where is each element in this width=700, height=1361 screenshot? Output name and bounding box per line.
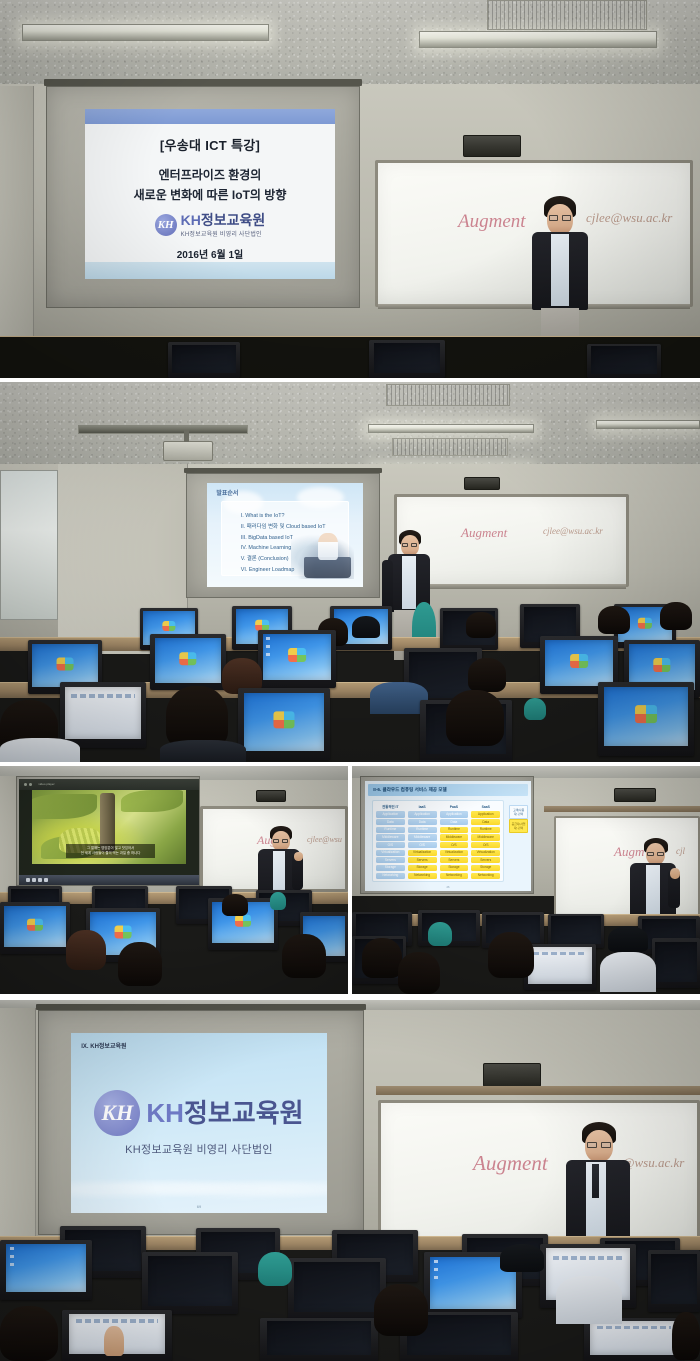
kh-logo-rest: 정보교육원 (184, 1098, 304, 1128)
cell-application: Application (376, 811, 405, 817)
side-window (0, 470, 58, 620)
banana-leaf-1 (32, 794, 97, 819)
screen (65, 687, 141, 740)
presenter-glasses (273, 839, 279, 843)
video-frame: 그 열매는 영양분이 많고 맛있어서 전 세계 사람들이 즐겨 먹는 과일 중 … (32, 790, 187, 864)
windows-logo-icon (635, 706, 657, 724)
video-subtitle: 그 열매는 영양분이 많고 맛있어서 전 세계 사람들이 즐겨 먹는 과일 중 … (66, 844, 156, 858)
teal-bag-seat (428, 922, 452, 946)
door-left (0, 1008, 36, 1240)
ceiling-texture (0, 382, 700, 464)
monitor-near-2 (524, 944, 596, 990)
screen (32, 644, 97, 687)
agenda-person-art (318, 533, 338, 560)
cell-storage: Storage (471, 865, 500, 871)
cloud-column-traditional: 전통적인 IT Application Data Runtime Middlew… (376, 803, 405, 879)
presenter-glasses-right (657, 852, 664, 856)
cell-networking: Networking (471, 873, 500, 879)
ceiling-light-c (368, 424, 534, 433)
whiteboard-note-secondary: cjlee@wsu (307, 835, 342, 844)
air-conditioner-vent-2 (392, 438, 508, 456)
chrome-dot (29, 783, 32, 786)
student-shoulder-1 (556, 1276, 622, 1324)
teal-bag-seat (270, 892, 286, 910)
monitor-near-3 (652, 938, 700, 988)
cloud-legend: 고객(사용자) 관리 공급자(사업자) 관리 (509, 805, 527, 833)
windows-logo-icon (179, 652, 196, 665)
kh-logo-kh: KH (181, 212, 201, 228)
cell-data: Data (376, 819, 405, 825)
cell-runtime: Runtime (376, 827, 405, 833)
cell-middleware: Middleware (440, 834, 469, 840)
gutter-3 (348, 766, 352, 994)
cell-runtime: Runtime (471, 827, 500, 833)
cell-middleware: Middleware (408, 834, 437, 840)
cloud-column-saas: SaaS Application Data Runtime Middleware… (471, 803, 500, 879)
student-head-3 (488, 932, 534, 978)
slide-page-number: 69 (197, 1204, 201, 1209)
panel-classroom-wide: 발표순서 I. What is the IoT? II. 패러다임 변화 및 C… (0, 382, 700, 762)
screen (6, 1244, 87, 1292)
monitor-mid-3 (258, 630, 336, 688)
slide-subtitle-2: 새로운 변화에 따른 IoT의 방향 (134, 186, 287, 204)
speaker-box (463, 135, 521, 157)
kh-logo-kh: KH (146, 1098, 184, 1128)
panel-closing-slide: IX. KH정보교육원 KH KH정보교육원 KH정보교육원 비영리 사단법인 … (0, 1000, 700, 1361)
cell-storage: Storage (376, 865, 405, 871)
screen (294, 1262, 380, 1312)
presenter-arm-left (382, 560, 393, 610)
presenter-glasses (647, 852, 654, 856)
cell-data: Data (408, 819, 437, 825)
monitor-mid-2 (150, 634, 226, 690)
front-monitor-1 (168, 342, 240, 378)
monitor-far-4 (548, 914, 604, 948)
speaker-box (464, 477, 500, 490)
ceiling-light-right (419, 31, 657, 48)
student-head-3 (222, 894, 248, 916)
cloud-column-paas: PaaS Application Data Runtime Middleware… (440, 803, 469, 879)
taskbar-icon[interactable] (32, 878, 36, 882)
presenter-glasses-right (562, 215, 571, 221)
column-header: SaaS (471, 803, 500, 810)
ceiling-light-e (596, 420, 700, 429)
cell-runtime: Runtime (408, 827, 437, 833)
agenda-title: 발표순서 (216, 488, 238, 497)
student-head-1 (362, 938, 402, 978)
desktop-icons (266, 637, 284, 658)
cell-servers: Servers (408, 857, 437, 863)
projector-screen-housing (44, 79, 362, 86)
student-hand-pointing (104, 1326, 124, 1356)
cell-servers: Servers (471, 857, 500, 863)
screen (148, 1256, 232, 1306)
ceiling-light-left (22, 24, 269, 41)
monitor-near-2 (238, 688, 330, 760)
screen (244, 693, 325, 751)
ceiling-light-a (78, 425, 248, 434)
windows-logo-icon (235, 915, 251, 927)
front-monitor-1-screen (172, 345, 235, 374)
kh-logo-tagline: KH정보교육원 비영리 사단법인 (125, 1141, 273, 1157)
front-monitor-3 (587, 344, 661, 378)
panel-title-slide: [우송대 ICT 특강] 엔터프라이즈 환경의 새로운 변화에 따른 IoT의 … (0, 0, 700, 378)
cloud-table-grid: 전통적인 IT Application Data Runtime Middlew… (376, 803, 500, 879)
slide-date: 2016년 6월 1일 (177, 246, 244, 261)
student-head-far-2 (466, 612, 496, 638)
speaker-box (483, 1063, 541, 1087)
kh-logo-block: KH KH정보교육원 KH정보교육원 비영리 사단법인 (94, 1090, 303, 1157)
speaker-box (256, 790, 286, 802)
presenter-glasses-right (411, 543, 417, 547)
closing-slide: IX. KH정보교육원 KH KH정보교육원 KH정보교육원 비영리 사단법인 … (71, 1033, 327, 1213)
cloud-slide-title: II-6. 클라우드 컴퓨팅 서비스 제공 모델 (368, 784, 527, 796)
cell-application: Application (440, 811, 469, 817)
projection-screen: II-6. 클라우드 컴퓨팅 서비스 제공 모델 전통적인 IT Applica… (360, 776, 534, 894)
cell-os: O/S (376, 842, 405, 848)
student-head-2 (398, 952, 440, 994)
cell-middleware: Middleware (376, 834, 405, 840)
kh-logo-row: KH KH정보교육원 (94, 1090, 303, 1136)
windows-logo-icon (638, 618, 652, 629)
screen (155, 638, 222, 683)
wall-shelf (376, 1086, 700, 1095)
door-left (0, 86, 34, 338)
projection-screen: IX. KH정보교육원 KH KH정보교육원 KH정보교육원 비영리 사단법인 … (38, 1010, 364, 1235)
windows-logo-icon (288, 648, 306, 662)
presenter-glasses-right (282, 839, 288, 843)
monitor-near-4 (584, 1318, 684, 1361)
slide-watermark (71, 1170, 327, 1202)
presenter-glasses-right (601, 1142, 611, 1148)
video-subtitle-line-2: 전 세계 사람들이 즐겨 먹는 과일 중 하나다 (69, 851, 153, 856)
column-header: 전통적인 IT (376, 803, 405, 810)
cell-networking: Networking (376, 873, 405, 879)
front-monitor-3-screen (591, 346, 656, 373)
agenda-item-1: I. What is the IoT? (241, 511, 342, 522)
student-cap (500, 1244, 544, 1272)
whiteboard-note-primary: Augment (473, 1151, 548, 1176)
panel-video-demo: video player 그 열매는 영양분이 많고 맛있어서 전 세계 사람들… (0, 766, 348, 994)
presenter-hand (294, 852, 303, 861)
cloud-table-card: 전통적인 IT Application Data Runtime Middlew… (372, 800, 505, 883)
kh-logo-mark: KH (155, 214, 177, 236)
cell-virtualization: Virtualization (471, 850, 500, 856)
cell-storage: Storage (408, 865, 437, 871)
video-slide: video player 그 열매는 영양분이 많고 맛있어서 전 세계 사람들… (19, 779, 199, 885)
cell-virtualization: Virtualization (440, 850, 469, 856)
presenter-shirt (402, 556, 416, 609)
panel-cloud-model: II-6. 클라우드 컴퓨팅 서비스 제공 모델 전통적인 IT Applica… (352, 766, 700, 994)
presenter-glasses (587, 1142, 597, 1148)
cell-storage: Storage (440, 865, 469, 871)
monitor-mid-1 (0, 902, 70, 954)
slide-heading: [우송대 ICT 특강] (160, 139, 260, 153)
column-header: PaaS (440, 803, 469, 810)
presenter-hand (670, 868, 680, 879)
presenter-glasses (549, 215, 558, 221)
student-head-3 (672, 1312, 700, 1360)
windows-logo-icon (653, 658, 670, 672)
monitor-mid-3 (288, 1258, 386, 1320)
student-head-1 (66, 930, 106, 970)
projector-mount (184, 430, 189, 442)
teal-bag-seat (524, 698, 546, 720)
wall-shelf (544, 806, 700, 812)
front-monitor-2-screen (374, 343, 441, 373)
cell-os: O/S (408, 842, 437, 848)
student-head-2 (118, 942, 162, 986)
cell-os: O/S (440, 842, 469, 848)
chrome-dot (24, 783, 27, 786)
cell-os: O/S (471, 842, 500, 848)
whiteboard-note-primary: Augment (458, 211, 526, 233)
screen (4, 906, 66, 948)
cell-servers: Servers (376, 857, 405, 863)
desktop-icons (434, 1260, 456, 1284)
monitor-near-4 (598, 682, 694, 756)
student-head-2 (374, 1284, 428, 1336)
windows-logo-icon (273, 711, 294, 728)
presenter-shirt (646, 865, 660, 919)
cell-data: Data (471, 819, 500, 825)
slide-section-label: IX. KH정보교육원 (81, 1041, 126, 1050)
kh-logo-tagline: KH정보교육원 비영리 사단법인 (181, 229, 262, 238)
presenter-tie (592, 1164, 599, 1198)
gutter-1 (0, 378, 700, 382)
whiteboard-note-primary: Augment (461, 525, 507, 541)
legend-user: 고객(사용자) 관리 (509, 805, 527, 819)
desktop-icons (10, 1247, 31, 1269)
speaker-box (614, 788, 656, 802)
video-browser-chrome: video player (19, 779, 199, 790)
student-shoulder-near-2 (160, 740, 246, 762)
projection-screen: 발표순서 I. What is the IoT? II. 패러다임 변화 및 C… (186, 473, 380, 598)
column-header: IaaS (408, 803, 437, 810)
monitor-near-1 (60, 682, 146, 748)
student-head-far-4 (660, 602, 692, 630)
whiteboard-note-secondary: cjlee@wsu.ac.kr (586, 210, 672, 226)
teal-bag-seat (258, 1252, 292, 1286)
screen (528, 947, 591, 984)
screen (651, 1254, 697, 1304)
student-shoulder-near-1 (0, 738, 80, 762)
screen (551, 916, 600, 943)
photo-collage: [우송대 ICT 특강] 엔터프라이즈 환경의 새로운 변화에 따른 IoT의 … (0, 0, 700, 1361)
kh-logo-mark: KH (94, 1090, 140, 1136)
cell-virtualization: Virtualization (408, 850, 437, 856)
slide-subtitle-1: 엔터프라이즈 환경의 (159, 166, 262, 184)
video-url-label: video player (38, 782, 54, 786)
cell-application: Application (471, 811, 500, 817)
title-slide: [우송대 ICT 특강] 엔터프라이즈 환경의 새로운 변화에 따른 IoT의 … (85, 109, 335, 279)
windows-logo-icon (255, 620, 269, 631)
cell-application: Application (408, 811, 437, 817)
cloud-model-slide: II-6. 클라우드 컴퓨팅 서비스 제공 모델 전통적인 IT Applica… (365, 781, 531, 891)
monitor-near-2 (260, 1318, 378, 1361)
student-head-near-2 (166, 686, 228, 748)
banana-leaf-2 (121, 790, 183, 812)
windows-logo-icon (162, 621, 175, 631)
kh-logo: KH KH정보교육원 KH정보교육원 비영리 사단법인 (155, 213, 266, 238)
taskbar-icon[interactable] (38, 878, 42, 882)
screen (267, 1321, 371, 1355)
ceiling-projector (163, 441, 213, 461)
windows-logo-icon (27, 919, 43, 931)
slide-top-band (85, 109, 335, 124)
cell-runtime: Runtime (440, 827, 469, 833)
student-cap-far (352, 616, 380, 638)
air-conditioner-vent (386, 384, 510, 406)
screen (545, 640, 614, 686)
student-head-4 (282, 934, 326, 978)
cell-servers: Servers (440, 857, 469, 863)
monitor-mid-2 (142, 1252, 238, 1314)
agenda-slide: 발표순서 I. What is the IoT? II. 패러다임 변화 및 C… (207, 483, 363, 587)
kh-logo-wordmark: KH정보교육원 (181, 213, 266, 227)
screen (655, 942, 697, 982)
student-head-1 (0, 1306, 58, 1361)
student-cap (608, 926, 648, 952)
kh-logo-rest: 정보교육원 (201, 212, 265, 228)
cell-virtualization: Virtualization (376, 850, 405, 856)
slide-bottom-band (85, 262, 335, 279)
windows-logo-icon (57, 657, 74, 670)
whiteboard: Augment ee@wsu.ac.kr (378, 1100, 700, 1248)
student-shoulder (600, 952, 656, 992)
student-head-far-3 (598, 606, 630, 634)
monitor-mid-6 (648, 1250, 700, 1312)
air-conditioner-vent (487, 0, 647, 30)
cell-networking: Networking (408, 873, 437, 879)
student-head-mid-2 (468, 658, 506, 692)
whiteboard-note-secondary: cjlee@wsu.ac.kr (543, 526, 603, 536)
screen (590, 1321, 678, 1355)
kh-logo-wordmark: KH정보교육원 (146, 1100, 303, 1126)
cell-networking: Networking (440, 873, 469, 879)
student-head-near-3 (446, 690, 504, 746)
monitor-mid-1 (0, 1240, 92, 1300)
screen (604, 687, 688, 746)
cell-data: Data (440, 819, 469, 825)
presenter-shirt (551, 234, 569, 306)
cloud-column-iaas: IaaS Application Data Runtime Middleware… (408, 803, 437, 879)
taskbar-icon[interactable] (44, 878, 48, 882)
projection-screen: [우송대 ICT 특강] 엔터프라이즈 환경의 새로운 변화에 따른 IoT의 … (46, 86, 360, 308)
presenter-glasses (402, 543, 408, 547)
screen (263, 634, 332, 680)
projection-screen: video player 그 열매는 영양분이 많고 맛있어서 전 세계 사람들… (16, 776, 200, 886)
windows-logo-icon (115, 925, 132, 938)
windows-taskbar (19, 875, 199, 885)
cell-middleware: Middleware (471, 834, 500, 840)
slide-page-number: 26 (447, 886, 450, 889)
legend-provider: 공급자(사업자) 관리 (509, 819, 527, 833)
ceiling (0, 382, 700, 464)
taskbar-icon[interactable] (26, 878, 30, 882)
front-monitor-2 (369, 340, 445, 378)
windows-logo-icon (570, 654, 588, 668)
